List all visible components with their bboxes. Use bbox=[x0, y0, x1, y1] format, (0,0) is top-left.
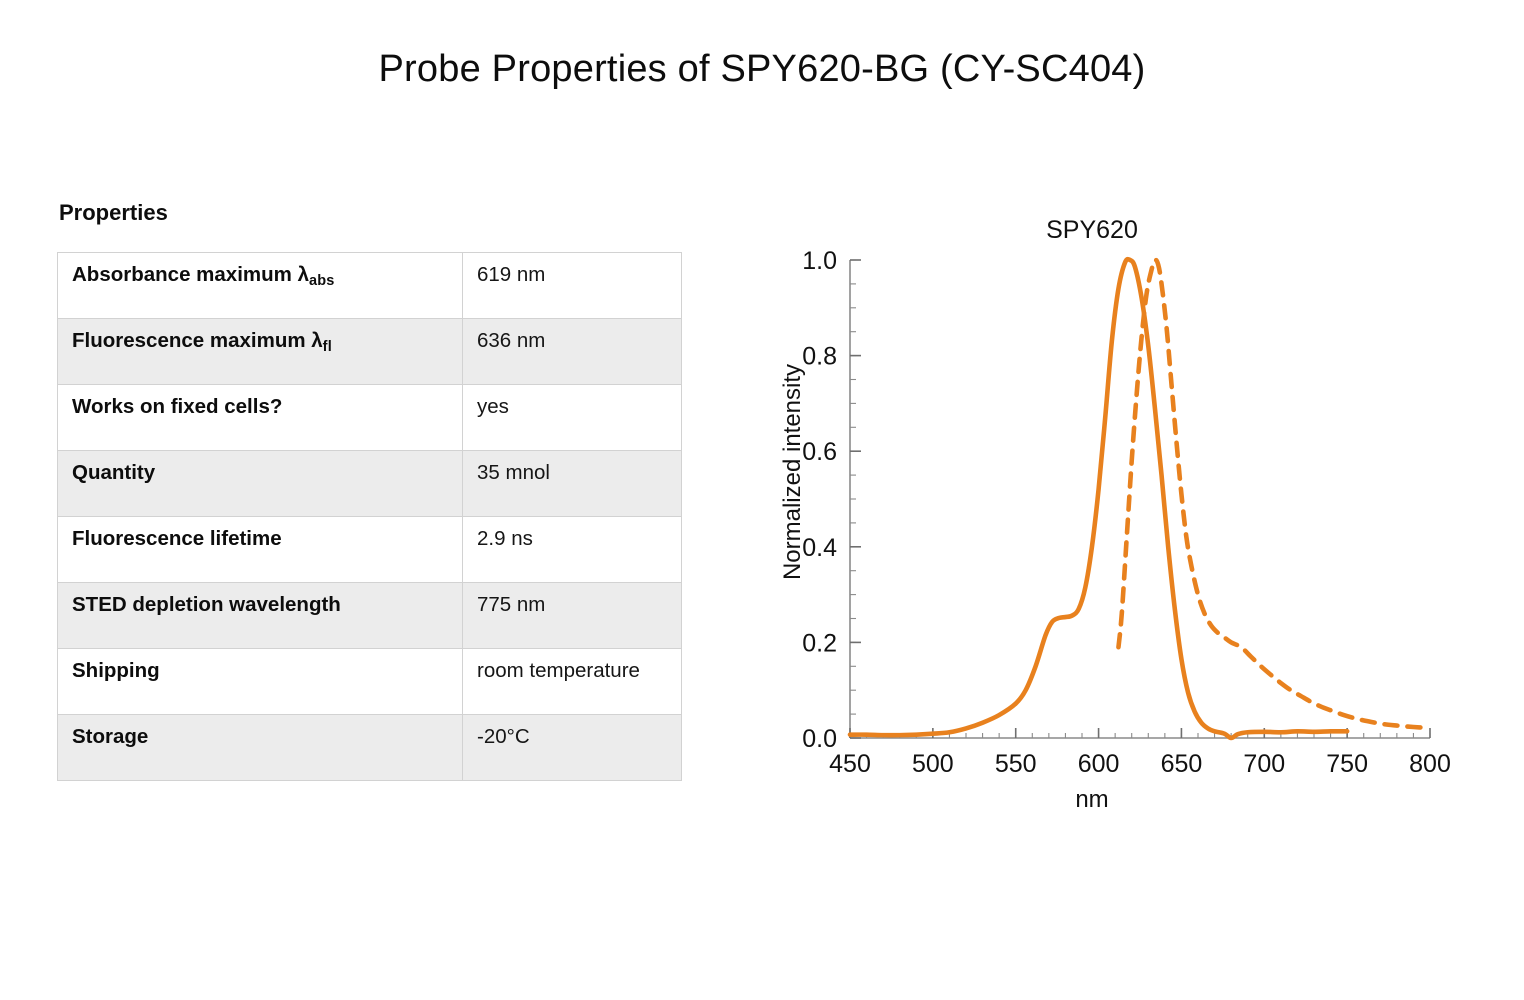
property-label-cell: Fluorescence maximum λfl bbox=[58, 319, 463, 385]
property-value-cell: 775 nm bbox=[463, 583, 682, 649]
property-value-cell: yes bbox=[463, 385, 682, 451]
y-tick-label: 0.8 bbox=[802, 343, 837, 371]
property-value-cell: 636 nm bbox=[463, 319, 682, 385]
property-value-cell: room temperature bbox=[463, 649, 682, 715]
table-row: Absorbance maximum λabs 619 nm bbox=[58, 253, 682, 319]
tick-label-layer: 4505005506006507007508000.00.20.40.60.81… bbox=[802, 247, 1451, 778]
property-label-cell: STED depletion wavelength bbox=[58, 583, 463, 649]
property-label-cell: Fluorescence lifetime bbox=[58, 517, 463, 583]
x-tick-label: 450 bbox=[829, 750, 871, 778]
curve-layer bbox=[850, 259, 1430, 738]
property-value-cell: 2.9 ns bbox=[463, 517, 682, 583]
page-title: Probe Properties of SPY620-BG (CY-SC404) bbox=[0, 48, 1524, 91]
x-tick-label: 500 bbox=[912, 750, 954, 778]
y-tick-label: 0.2 bbox=[802, 629, 837, 657]
x-tick-label: 600 bbox=[1078, 750, 1120, 778]
spectra-plot-svg: 4505005506006507007508000.00.20.40.60.81… bbox=[752, 238, 1492, 798]
table-row: STED depletion wavelength 775 nm bbox=[58, 583, 682, 649]
x-tick-label: 750 bbox=[1326, 750, 1368, 778]
property-label-cell: Storage bbox=[58, 715, 463, 781]
axis-layer bbox=[850, 260, 1430, 738]
table-row: Fluorescence maximum λfl 636 nm bbox=[58, 319, 682, 385]
property-label-cell: Works on fixed cells? bbox=[58, 385, 463, 451]
property-label-text: STED depletion wavelength bbox=[72, 593, 341, 616]
property-label-text: Fluorescence lifetime bbox=[72, 527, 282, 550]
property-label-text: Absorbance maximum λ bbox=[72, 263, 309, 286]
y-tick-label: 0.0 bbox=[802, 725, 837, 753]
x-tick-label: 700 bbox=[1243, 750, 1285, 778]
absorption-curve bbox=[850, 259, 1347, 738]
property-label-text: Storage bbox=[72, 725, 148, 748]
property-label-text: Shipping bbox=[72, 659, 160, 682]
y-tick-label: 1.0 bbox=[802, 247, 837, 275]
spectra-chart-panel: SPY620 4505005506006507007508000.00.20.4… bbox=[752, 208, 1492, 828]
property-label-subscript: fl bbox=[323, 339, 332, 355]
table-row: Fluorescence lifetime 2.9 ns bbox=[58, 517, 682, 583]
properties-panel: Properties Absorbance maximum λabs 619 n… bbox=[57, 200, 682, 781]
table-row: Quantity 35 mnol bbox=[58, 451, 682, 517]
property-value-cell: 35 mnol bbox=[463, 451, 682, 517]
table-row: Storage -20°C bbox=[58, 715, 682, 781]
property-label-text: Fluorescence maximum λ bbox=[72, 329, 323, 352]
property-label-text: Quantity bbox=[72, 461, 155, 484]
properties-table: Absorbance maximum λabs 619 nm Fluoresce… bbox=[57, 252, 682, 781]
table-row: Shipping room temperature bbox=[58, 649, 682, 715]
x-tick-label: 550 bbox=[995, 750, 1037, 778]
plot-area: 4505005506006507007508000.00.20.40.60.81… bbox=[752, 238, 1492, 798]
property-label-cell: Shipping bbox=[58, 649, 463, 715]
y-tick-label: 0.6 bbox=[802, 438, 837, 466]
property-label-text: Works on fixed cells? bbox=[72, 395, 282, 418]
y-axis-label: Normalized intensity bbox=[779, 327, 807, 617]
properties-heading: Properties bbox=[59, 200, 682, 226]
property-label-cell: Quantity bbox=[58, 451, 463, 517]
x-axis-label: nm bbox=[752, 786, 1432, 814]
table-row: Works on fixed cells? yes bbox=[58, 385, 682, 451]
x-tick-label: 650 bbox=[1161, 750, 1203, 778]
property-value-cell: -20°C bbox=[463, 715, 682, 781]
y-tick-label: 0.4 bbox=[802, 534, 837, 562]
property-value-cell: 619 nm bbox=[463, 253, 682, 319]
property-label-subscript: abs bbox=[309, 273, 335, 289]
x-tick-label: 800 bbox=[1409, 750, 1451, 778]
property-label-cell: Absorbance maximum λabs bbox=[58, 253, 463, 319]
